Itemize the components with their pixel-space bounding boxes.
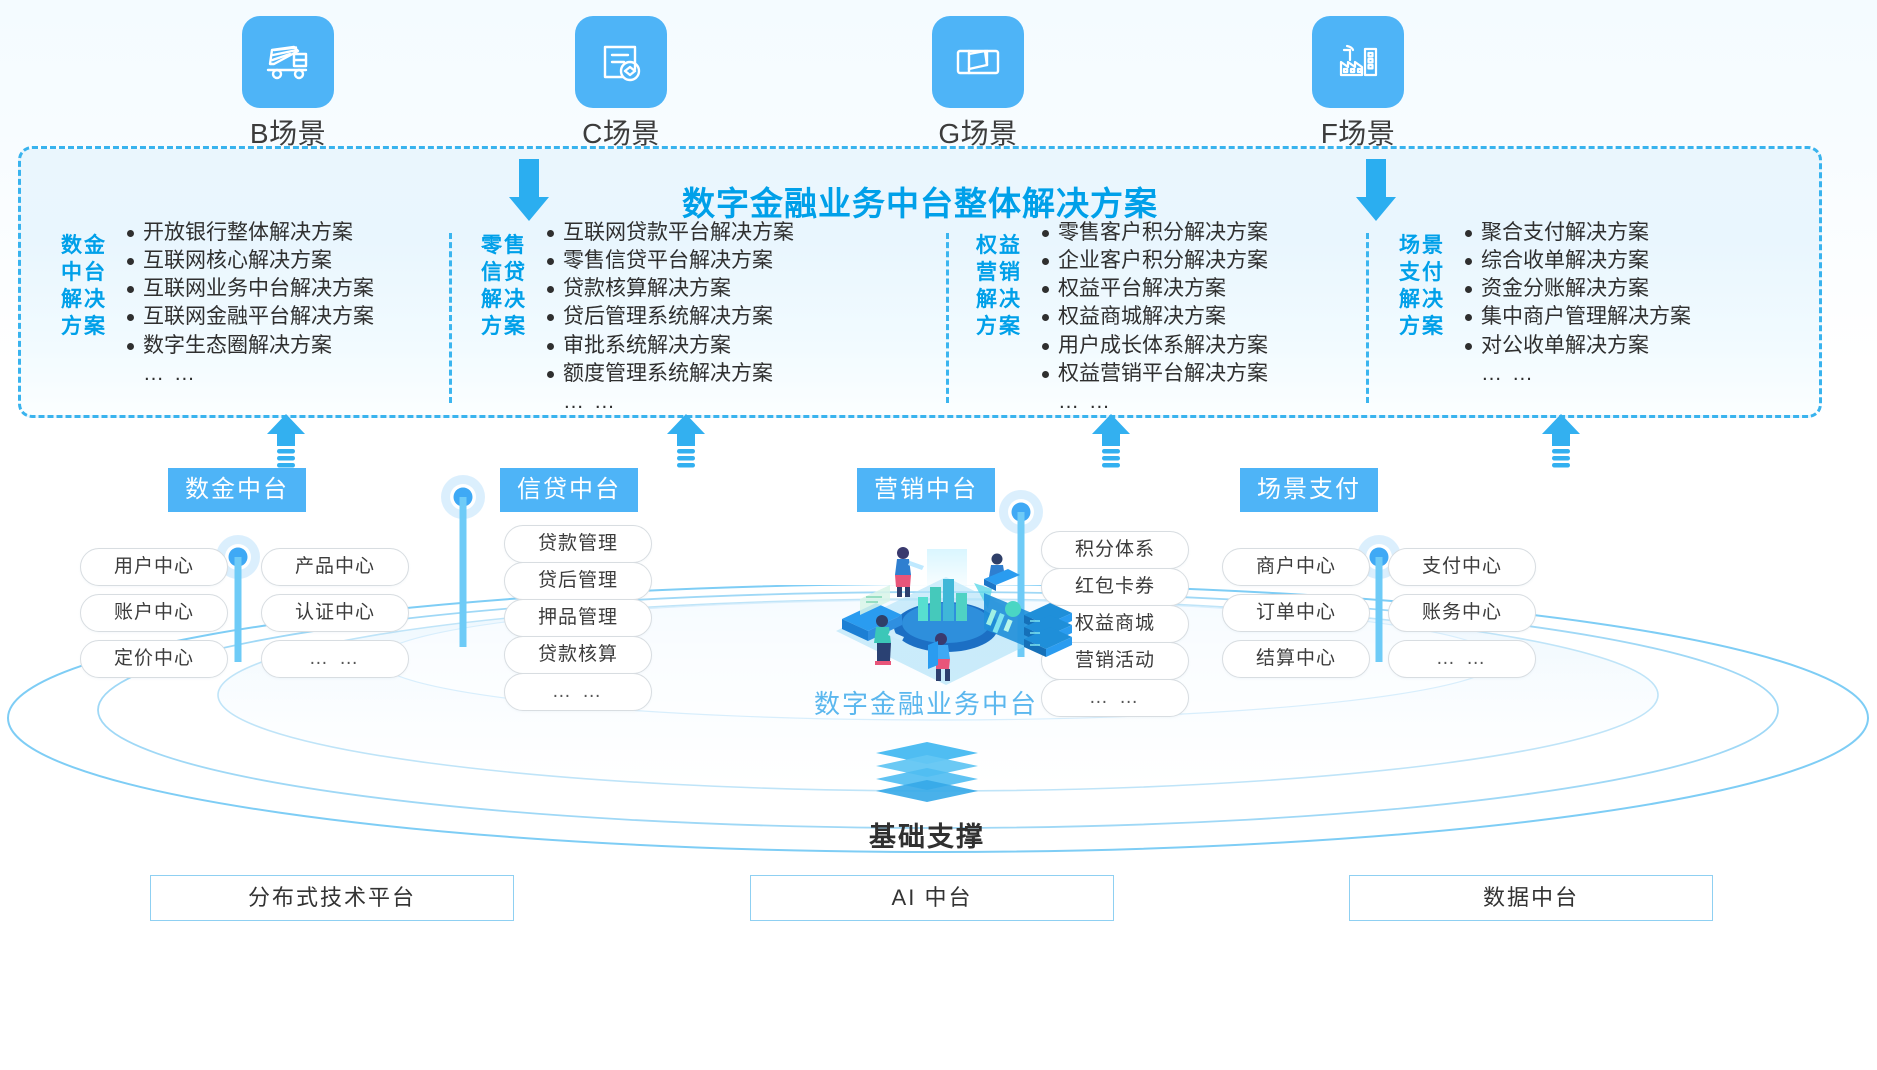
capability-pill-ellipsis[interactable]: … … [261,640,409,678]
capability-pill[interactable]: 结算中心 [1222,640,1370,678]
column-divider [449,233,452,403]
solution-panel: 数字金融业务中台整体解决方案 数金 中台 解决 方案 开放银行整体解决方案 互联… [18,146,1822,418]
up-arrow-shujin [265,414,307,472]
capability-pill[interactable]: 认证中心 [261,594,409,632]
solution-item: 数字生态圈解决方案 [123,332,374,360]
base-support-title: 基础支撑 [847,815,1007,854]
solution-item: 资金分账解决方案 [1461,275,1691,303]
base-platform-box[interactable]: AI 中台 [750,875,1114,921]
solution-item: 权益营销平台解决方案 [1038,360,1268,388]
solution-item-ellipsis: … … [543,388,794,416]
data-platform-illustration [806,535,1086,695]
map-pin-xindai [430,475,496,650]
capability-pill[interactable]: 定价中心 [80,640,228,678]
capability-pill[interactable]: 账户中心 [80,594,228,632]
solution-item-ellipsis: … … [123,360,374,388]
capability-pill[interactable]: 商户中心 [1222,548,1370,586]
base-platform-box[interactable]: 分布式技术平台 [150,875,514,921]
solution-item: 开放银行整体解决方案 [123,219,374,247]
solution-item-ellipsis: … … [1038,388,1268,416]
solution-item: 零售客户积分解决方案 [1038,219,1268,247]
column-label: 权益 营销 解决 方案 [976,233,1030,341]
platform-chip-shujin[interactable]: 数金中台 [168,468,306,512]
solution-item: 贷款核算解决方案 [543,275,794,303]
solution-item: 集中商户管理解决方案 [1461,303,1691,331]
capability-pill-ellipsis[interactable]: … … [1388,640,1536,678]
map-icon [932,16,1024,108]
solution-column-quanyi: 权益 营销 解决 方案 零售客户积分解决方案 企业客户积分解决方案 权益平台解决… [976,219,1268,416]
solution-item: 权益商城解决方案 [1038,303,1268,331]
diagram-canvas: B场景 资金监管 I 企业财资 I …… C场景 消费类 I 新零售 I …… [0,0,1877,1070]
solution-item: 企业客户积分解决方案 [1038,247,1268,275]
column-label: 数金 中台 解决 方案 [61,233,115,341]
column-label: 场景 支付 解决 方案 [1399,233,1453,341]
capability-pill[interactable]: 产品中心 [261,548,409,586]
capability-pill-ellipsis[interactable]: … … [504,673,652,711]
solution-item: 聚合支付解决方案 [1461,219,1691,247]
solution-columns: 数金 中台 解决 方案 开放银行整体解决方案 互联网核心解决方案 互联网业务中台… [21,219,1819,419]
solution-item: 额度管理系统解决方案 [543,360,794,388]
column-items: 开放银行整体解决方案 互联网核心解决方案 互联网业务中台解决方案 互联网金融平台… [123,219,374,388]
column-divider [946,233,949,403]
solution-item: 权益平台解决方案 [1038,275,1268,303]
scenario-row: B场景 资金监管 I 企业财资 I …… C场景 消费类 I 新零售 I …… [0,8,1877,168]
base-platform-box[interactable]: 数据中台 [1349,875,1713,921]
column-items: 互联网贷款平台解决方案 零售信贷平台解决方案 贷款核算解决方案 贷后管理系统解决… [543,219,794,416]
solution-item: 综合收单解决方案 [1461,247,1691,275]
capability-pill[interactable]: 账务中心 [1388,594,1536,632]
solution-column-xindai: 零售 信贷 解决 方案 互联网贷款平台解决方案 零售信贷平台解决方案 贷款核算解… [481,219,794,416]
capability-pill[interactable]: 支付中心 [1388,548,1536,586]
solution-column-zhifu: 场景 支付 解决 方案 聚合支付解决方案 综合收单解决方案 资金分账解决方案 集… [1399,219,1691,388]
solution-item-ellipsis: … … [1461,360,1691,388]
platform-chip-zhifu[interactable]: 场景支付 [1240,468,1378,512]
column-items: 聚合支付解决方案 综合收单解决方案 资金分账解决方案 集中商户管理解决方案 对公… [1461,219,1691,388]
capability-pill[interactable]: 贷后管理 [504,562,652,600]
capability-pill[interactable]: 贷款核算 [504,636,652,674]
solution-item: 审批系统解决方案 [543,332,794,360]
solution-item: 对公收单解决方案 [1461,332,1691,360]
truck-icon [242,16,334,108]
capability-pill[interactable]: 订单中心 [1222,594,1370,632]
layered-stack-icon [862,742,992,804]
solution-item: 互联网金融平台解决方案 [123,303,374,331]
solution-item: 互联网核心解决方案 [123,247,374,275]
solution-item: 用户成长体系解决方案 [1038,332,1268,360]
capability-pill[interactable]: 贷款管理 [504,525,652,563]
factory-icon [1312,16,1404,108]
platform-chip-xindai[interactable]: 信贷中台 [500,468,638,512]
solution-item: 互联网业务中台解决方案 [123,275,374,303]
center-platform-label: 数字金融业务中台 [814,684,1038,721]
solution-item: 零售信贷平台解决方案 [543,247,794,275]
capability-pill[interactable]: 用户中心 [80,548,228,586]
solution-item: 互联网贷款平台解决方案 [543,219,794,247]
document-view-icon [575,16,667,108]
up-arrow-xindai [665,414,707,472]
column-items: 零售客户积分解决方案 企业客户积分解决方案 权益平台解决方案 权益商城解决方案 … [1038,219,1268,416]
column-divider [1366,233,1369,403]
platform-chip-yingxiao[interactable]: 营销中台 [857,468,995,512]
column-label: 零售 信贷 解决 方案 [481,233,535,341]
panel-title: 数字金融业务中台整体解决方案 [21,177,1819,225]
solution-item: 贷后管理系统解决方案 [543,303,794,331]
solution-column-shujin: 数金 中台 解决 方案 开放银行整体解决方案 互联网核心解决方案 互联网业务中台… [61,219,374,388]
up-arrow-zhifu [1540,414,1582,472]
capability-pill[interactable]: 押品管理 [504,599,652,637]
up-arrow-yingxiao [1090,414,1132,472]
